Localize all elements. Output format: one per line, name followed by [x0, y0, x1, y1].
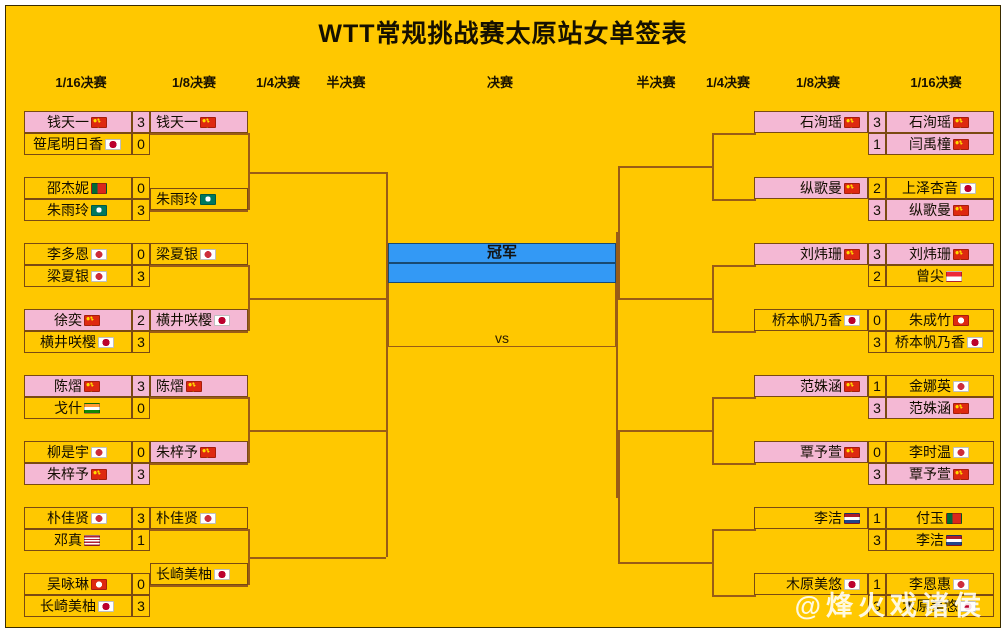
round-label: 1/16决赛 [55, 72, 106, 91]
sf-stub [618, 166, 714, 168]
r8-winner: 钱天一 [150, 111, 248, 133]
match-score: 3 [868, 529, 886, 551]
flag-icon-jpn [844, 315, 860, 326]
flag-icon-jpn [960, 183, 976, 194]
flag-icon-chn [953, 205, 969, 216]
champion-slot-bottom [388, 263, 616, 283]
match-score: 1 [868, 507, 886, 529]
player-name: 桥本帆乃香 [772, 312, 842, 328]
flag-icon-jpn [105, 139, 121, 150]
bracket-canvas: WTT常规挑战赛太原站女单签表 1/16决赛1/8决赛1/4决赛半决赛决赛半决赛… [5, 5, 1001, 628]
player-name: 刘炜珊 [800, 246, 842, 262]
flag-icon-chn [200, 117, 216, 128]
player-name: 梁夏银 [156, 246, 198, 262]
flag-icon-chn [186, 381, 202, 392]
round-label: 1/16决赛 [910, 72, 961, 91]
player-name: 朴佳贤 [156, 510, 198, 526]
qf-stub [150, 210, 248, 212]
r16-player: 李时温 [886, 441, 994, 463]
r8-winner: 覃予萱 [754, 441, 868, 463]
r16-player: 上泽杏音 [886, 177, 994, 199]
r16-player: 陈熠 [24, 375, 132, 397]
match-score: 3 [868, 463, 886, 485]
r8-winner: 朱梓予 [150, 441, 248, 463]
flag-icon-kor [91, 447, 107, 458]
page-title: WTT常规挑战赛太原站女单签表 [6, 14, 1000, 50]
r16-player: 朱梓予 [24, 463, 132, 485]
qf-stub [712, 595, 754, 597]
player-name: 朱雨玲 [47, 202, 89, 218]
player-name: 朴佳贤 [47, 510, 89, 526]
player-name: 木原美悠 [902, 598, 958, 614]
sf-stub [248, 298, 386, 300]
r16-player: 梁夏银 [24, 265, 132, 287]
match-score: 3 [132, 507, 150, 529]
r8-winner: 陈熠 [150, 375, 248, 397]
match-score: 0 [132, 177, 150, 199]
flag-icon-usa [84, 535, 100, 546]
qf-stub [712, 331, 754, 333]
player-name: 钱天一 [47, 114, 89, 130]
flag-icon-chn [91, 469, 107, 480]
match-score: 2 [868, 177, 886, 199]
match-score: 0 [132, 573, 150, 595]
flag-icon-chn [844, 381, 860, 392]
match-score: 0 [132, 397, 150, 419]
qf-stub [712, 397, 754, 399]
flag-icon-chn [953, 249, 969, 260]
r8-winner: 横井咲樱 [150, 309, 248, 331]
r16-player: 邵杰妮 [24, 177, 132, 199]
r16-player: 朴佳贤 [24, 507, 132, 529]
round-label: 1/4决赛 [256, 72, 300, 91]
flag-icon-kor [953, 447, 969, 458]
r16-player: 李多恩 [24, 243, 132, 265]
player-name: 石洵瑶 [909, 114, 951, 130]
sf-stub [618, 562, 714, 564]
match-score: 3 [132, 375, 150, 397]
round-label: 1/8决赛 [172, 72, 216, 91]
player-name: 梁夏银 [47, 268, 89, 284]
r8-winner: 刘炜珊 [754, 243, 868, 265]
flag-icon-jpn [98, 601, 114, 612]
qf-stub [712, 463, 754, 465]
r8-winner: 梁夏银 [150, 243, 248, 265]
flag-icon-jpn [98, 337, 114, 348]
r8-winner: 李洁 [754, 507, 868, 529]
match-score: 1 [868, 375, 886, 397]
flag-icon-chn [91, 117, 107, 128]
match-score: 1 [868, 573, 886, 595]
r16-player: 范姝涵 [886, 397, 994, 419]
qf-stub [150, 397, 248, 399]
r16-player: 付玉 [886, 507, 994, 529]
r16-player: 闫禹橦 [886, 133, 994, 155]
round-label: 1/8决赛 [796, 72, 840, 91]
match-score: 0 [132, 243, 150, 265]
flag-icon-chn [953, 469, 969, 480]
r16-player: 长崎美柚 [24, 595, 132, 617]
flag-icon-kor [200, 513, 216, 524]
final-spine [616, 232, 618, 496]
final-stub [386, 494, 388, 496]
flag-icon-chn [200, 447, 216, 458]
flag-icon-sgp [946, 271, 962, 282]
r16-player: 曾尖 [886, 265, 994, 287]
qf-stub [150, 331, 248, 333]
match-score: 3 [868, 111, 886, 133]
round-label: 半决赛 [326, 72, 365, 91]
flag-icon-jpn [214, 569, 230, 580]
qf-stub [712, 265, 754, 267]
r16-player: 笹尾明日香 [24, 133, 132, 155]
qf-stub [150, 529, 248, 531]
flag-icon-jpn [844, 579, 860, 590]
r8-winner: 范姝涵 [754, 375, 868, 397]
player-name: 长崎美柚 [40, 598, 96, 614]
round-label: 半决赛 [636, 72, 675, 91]
flag-icon-hkg [91, 579, 107, 590]
r16-player: 木原美悠 [886, 595, 994, 617]
match-score: 3 [868, 331, 886, 353]
r16-player: 桥本帆乃香 [886, 331, 994, 353]
r8-winner: 木原美悠 [754, 573, 868, 595]
flag-icon-kor [91, 249, 107, 260]
flag-icon-chn [844, 447, 860, 458]
r16-player: 金娜英 [886, 375, 994, 397]
r16-player: 刘炜珊 [886, 243, 994, 265]
player-name: 横井咲樱 [156, 312, 212, 328]
flag-icon-kor [91, 513, 107, 524]
player-name: 横井咲樱 [40, 334, 96, 350]
player-name: 付玉 [916, 510, 944, 526]
player-name: 陈熠 [156, 378, 184, 394]
player-name: 徐奕 [54, 312, 82, 328]
player-name: 石洵瑶 [800, 114, 842, 130]
flag-icon-chn [84, 315, 100, 326]
sf-stub [248, 557, 386, 559]
player-name: 邵杰妮 [47, 180, 89, 196]
r16-player: 徐奕 [24, 309, 132, 331]
match-score: 0 [132, 441, 150, 463]
player-name: 陈熠 [54, 378, 82, 394]
player-name: 朱雨玲 [156, 191, 198, 207]
flag-icon-jpn [967, 337, 983, 348]
match-score: 3 [132, 331, 150, 353]
flag-icon-kor [200, 249, 216, 260]
r16-player: 李恩惠 [886, 573, 994, 595]
r8-winner: 长崎美柚 [150, 563, 248, 585]
r16-player: 柳是宇 [24, 441, 132, 463]
player-name: 木原美悠 [786, 576, 842, 592]
match-score: 2 [868, 265, 886, 287]
flag-icon-por [91, 183, 107, 194]
r16-player: 钱天一 [24, 111, 132, 133]
qf-stub [150, 463, 248, 465]
r16-player: 石洵瑶 [886, 111, 994, 133]
sf-stub [618, 298, 714, 300]
match-score: 0 [868, 441, 886, 463]
player-name: 纵歌曼 [909, 202, 951, 218]
match-score: 3 [132, 111, 150, 133]
flag-icon-jpn [214, 315, 230, 326]
champion-slot-top: 冠军 [388, 243, 616, 263]
sf-stub [248, 172, 386, 174]
qf-stub [712, 133, 754, 135]
flag-icon-chn [844, 183, 860, 194]
player-name: 桥本帆乃香 [895, 334, 965, 350]
r16-player: 横井咲樱 [24, 331, 132, 353]
r16-player: 邓真 [24, 529, 132, 551]
qf-stub [712, 529, 754, 531]
r16-player: 李洁 [886, 529, 994, 551]
player-name: 覃予萱 [909, 466, 951, 482]
flag-icon-por [946, 513, 962, 524]
r8-winner: 纵歌曼 [754, 177, 868, 199]
player-name: 邓真 [54, 532, 82, 548]
r8-winner: 桥本帆乃香 [754, 309, 868, 331]
match-score: 0 [132, 133, 150, 155]
match-score: 3 [868, 243, 886, 265]
player-name: 李时温 [909, 444, 951, 460]
flag-icon-hkg [953, 315, 969, 326]
player-name: 吴咏琳 [47, 576, 89, 592]
r16-player: 朱成竹 [886, 309, 994, 331]
r8-winner: 石洵瑶 [754, 111, 868, 133]
qf-stub [150, 265, 248, 267]
r16-player: 纵歌曼 [886, 199, 994, 221]
r16-player: 覃予萱 [886, 463, 994, 485]
player-name: 朱梓予 [156, 444, 198, 460]
match-score: 3 [132, 265, 150, 287]
qf-stub [150, 133, 248, 135]
player-name: 范姝涵 [909, 400, 951, 416]
match-score: 3 [868, 397, 886, 419]
player-name: 闫禹橦 [909, 136, 951, 152]
player-name: 长崎美柚 [156, 566, 212, 582]
r16-player: 戈什 [24, 397, 132, 419]
flag-icon-ned [946, 535, 962, 546]
player-name: 范姝涵 [800, 378, 842, 394]
round-label: 决赛 [487, 72, 513, 91]
player-name: 纵歌曼 [800, 180, 842, 196]
qf-stub [712, 199, 754, 201]
player-name: 朱成竹 [909, 312, 951, 328]
player-name: 曾尖 [916, 268, 944, 284]
r8-winner: 朱雨玲 [150, 188, 248, 210]
flag-icon-chn [844, 117, 860, 128]
final-vs-box: vs [388, 283, 616, 347]
player-name: 笹尾明日香 [33, 136, 103, 152]
player-name: 戈什 [54, 400, 82, 416]
flag-icon-mac [91, 205, 107, 216]
sf-stub [618, 430, 714, 432]
flag-icon-kor [953, 579, 969, 590]
match-score: 0 [868, 309, 886, 331]
player-name: 钱天一 [156, 114, 198, 130]
match-score: 3 [868, 199, 886, 221]
flag-icon-ned [844, 513, 860, 524]
player-name: 刘炜珊 [909, 246, 951, 262]
player-name: 覃予萱 [800, 444, 842, 460]
player-name: 李洁 [814, 510, 842, 526]
match-score: 3 [132, 199, 150, 221]
flag-icon-kor [91, 271, 107, 282]
player-name: 金娜英 [909, 378, 951, 394]
qf-stub [150, 585, 248, 587]
match-score: 2 [132, 309, 150, 331]
sf-stub [248, 430, 386, 432]
flag-icon-chn [953, 403, 969, 414]
match-score: 3 [868, 595, 886, 617]
player-name: 李洁 [916, 532, 944, 548]
flag-icon-jpn [960, 601, 976, 612]
flag-icon-chn [844, 249, 860, 260]
player-name: 上泽杏音 [902, 180, 958, 196]
r8-winner: 朴佳贤 [150, 507, 248, 529]
player-name: 李恩惠 [909, 576, 951, 592]
flag-icon-chn [953, 117, 969, 128]
match-score: 1 [132, 529, 150, 551]
flag-icon-mac [200, 194, 216, 205]
match-score: 3 [132, 595, 150, 617]
match-score: 1 [868, 133, 886, 155]
r16-player: 朱雨玲 [24, 199, 132, 221]
r16-player: 吴咏琳 [24, 573, 132, 595]
player-name: 朱梓予 [47, 466, 89, 482]
bracket-screenshot: WTT常规挑战赛太原站女单签表 1/16决赛1/8决赛1/4决赛半决赛决赛半决赛… [0, 0, 1006, 633]
round-label: 1/4决赛 [706, 72, 750, 91]
flag-icon-ind [84, 403, 100, 414]
flag-icon-chn [953, 139, 969, 150]
player-name: 李多恩 [47, 246, 89, 262]
player-name: 柳是宇 [47, 444, 89, 460]
final-stub [616, 496, 620, 498]
flag-icon-kor [953, 381, 969, 392]
match-score: 3 [132, 463, 150, 485]
flag-icon-chn [84, 381, 100, 392]
